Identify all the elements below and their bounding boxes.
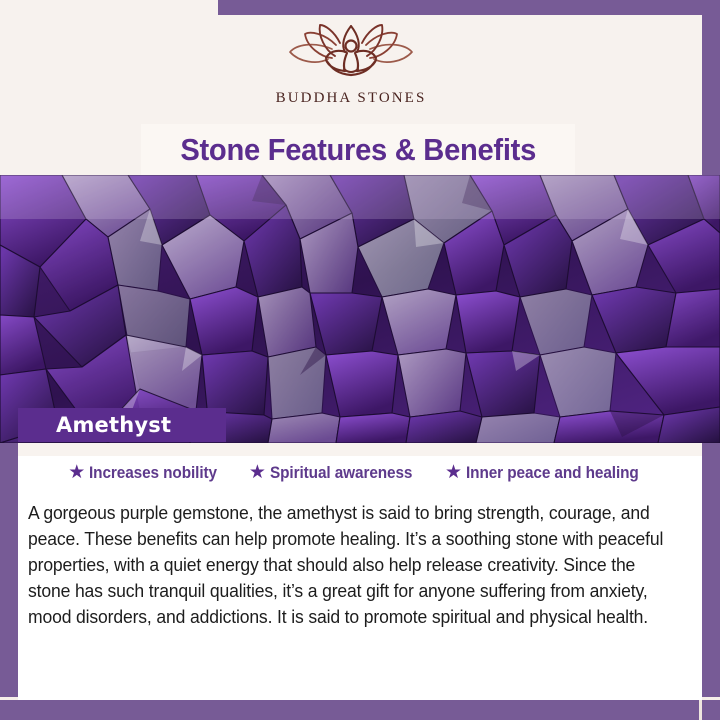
frame-top-right-band	[218, 0, 720, 15]
frame-left-band	[0, 437, 18, 720]
brand-logo: BUDDHA STONES	[0, 23, 702, 107]
amethyst-crystal-cluster-graphic	[0, 175, 720, 443]
title-banner: Stone Features & Benefits	[141, 124, 575, 175]
star-icon: ★	[445, 463, 462, 482]
star-icon: ★	[249, 463, 266, 482]
content-top-fade	[18, 443, 702, 456]
amethyst-hero-image	[0, 175, 720, 443]
benefit-label: Spiritual awareness	[270, 464, 412, 483]
lotus-meditation-icon	[276, 23, 426, 85]
brand-name: BUDDHA STONES	[276, 90, 427, 107]
benefit-label: Increases nobility	[89, 464, 217, 483]
page-title: Stone Features & Benefits	[180, 132, 536, 168]
benefit-item: ★ Spiritual awareness	[249, 464, 423, 483]
benefit-item: ★ Increases nobility	[68, 464, 227, 483]
stone-content-card: ★ Increases nobility ★ Spiritual awarene…	[18, 443, 702, 700]
star-icon: ★	[68, 463, 85, 482]
benefit-item: ★ Inner peace and healing	[445, 464, 652, 483]
stone-description: A gorgeous purple gemstone, the amethyst…	[28, 500, 671, 630]
stone-name: Amethyst	[56, 413, 171, 437]
stone-name-banner: Amethyst	[18, 408, 226, 442]
benefits-row: ★ Increases nobility ★ Spiritual awarene…	[18, 464, 702, 483]
stone-info-poster: BUDDHA STONES Stone Features & Benefits	[0, 0, 720, 720]
benefit-label: Inner peace and healing	[466, 464, 639, 483]
frame-bottom-band	[0, 700, 720, 720]
